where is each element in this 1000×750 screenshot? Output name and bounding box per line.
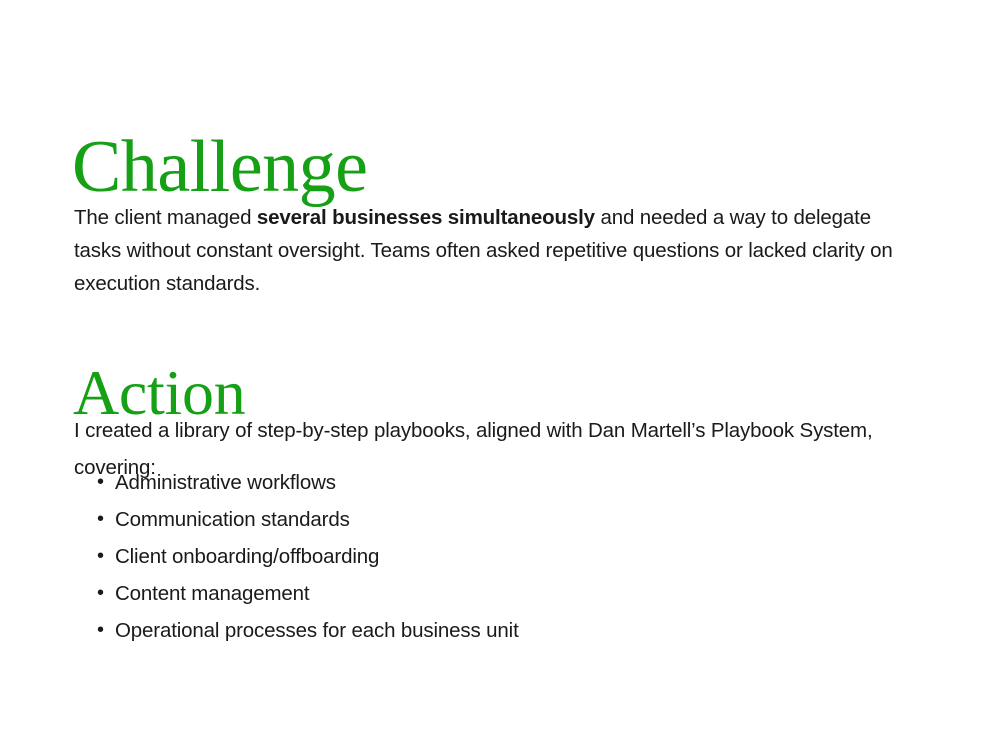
challenge-paragraph-emphasis: several businesses simultaneously [257,206,595,229]
challenge-paragraph: The client managed several businesses si… [74,201,910,300]
challenge-heading: Challenge [72,130,368,204]
challenge-paragraph-text-part1: The client managed [74,206,257,229]
list-item-label: Operational processes for each business … [115,619,519,642]
slide-canvas: Challenge The client managed several bus… [0,0,1000,750]
list-item-label: Content management [115,582,309,605]
list-item-label: Client onboarding/offboarding [115,545,379,568]
list-item: • Content management [74,575,914,612]
list-item: • Administrative workflows [74,464,914,501]
list-item-label: Communication standards [115,508,350,531]
list-item-label: Administrative workflows [115,471,336,494]
bullet-icon: • [97,538,104,575]
bullet-icon: • [97,464,104,501]
list-item: • Operational processes for each busines… [74,612,914,649]
bullet-icon: • [97,501,104,538]
list-item: • Client onboarding/offboarding [74,538,914,575]
bullet-icon: • [97,575,104,612]
bullet-icon: • [97,612,104,649]
action-bullet-list: • Administrative workflows • Communicati… [74,464,914,649]
list-item: • Communication standards [74,501,914,538]
